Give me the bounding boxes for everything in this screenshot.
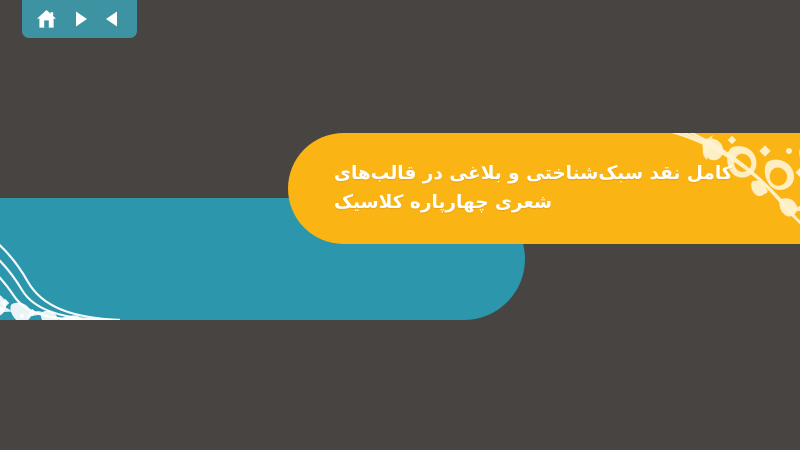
home-button[interactable] <box>32 6 60 32</box>
title-line-1: کامل نقد سبک‌شناختی و بلاغی در قالب‌های <box>334 160 733 189</box>
triangle-right-icon <box>71 10 89 28</box>
orange-banner: کامل نقد سبک‌شناختی و بلاغی در قالب‌های … <box>288 133 800 244</box>
slide-canvas: کامل نقد سبک‌شناختی و بلاغی در قالب‌های … <box>0 0 800 450</box>
triangle-left-icon <box>104 10 122 28</box>
floral-arabesque-corner-ornament <box>0 198 190 320</box>
forward-button[interactable] <box>66 6 94 32</box>
home-icon <box>36 9 57 29</box>
slide-title: کامل نقد سبک‌شناختی و بلاغی در قالب‌های … <box>334 133 800 244</box>
back-button[interactable] <box>99 6 127 32</box>
title-line-2: شعری چهارپاره کلاسیک <box>334 189 552 218</box>
navigation-bar <box>22 0 137 38</box>
